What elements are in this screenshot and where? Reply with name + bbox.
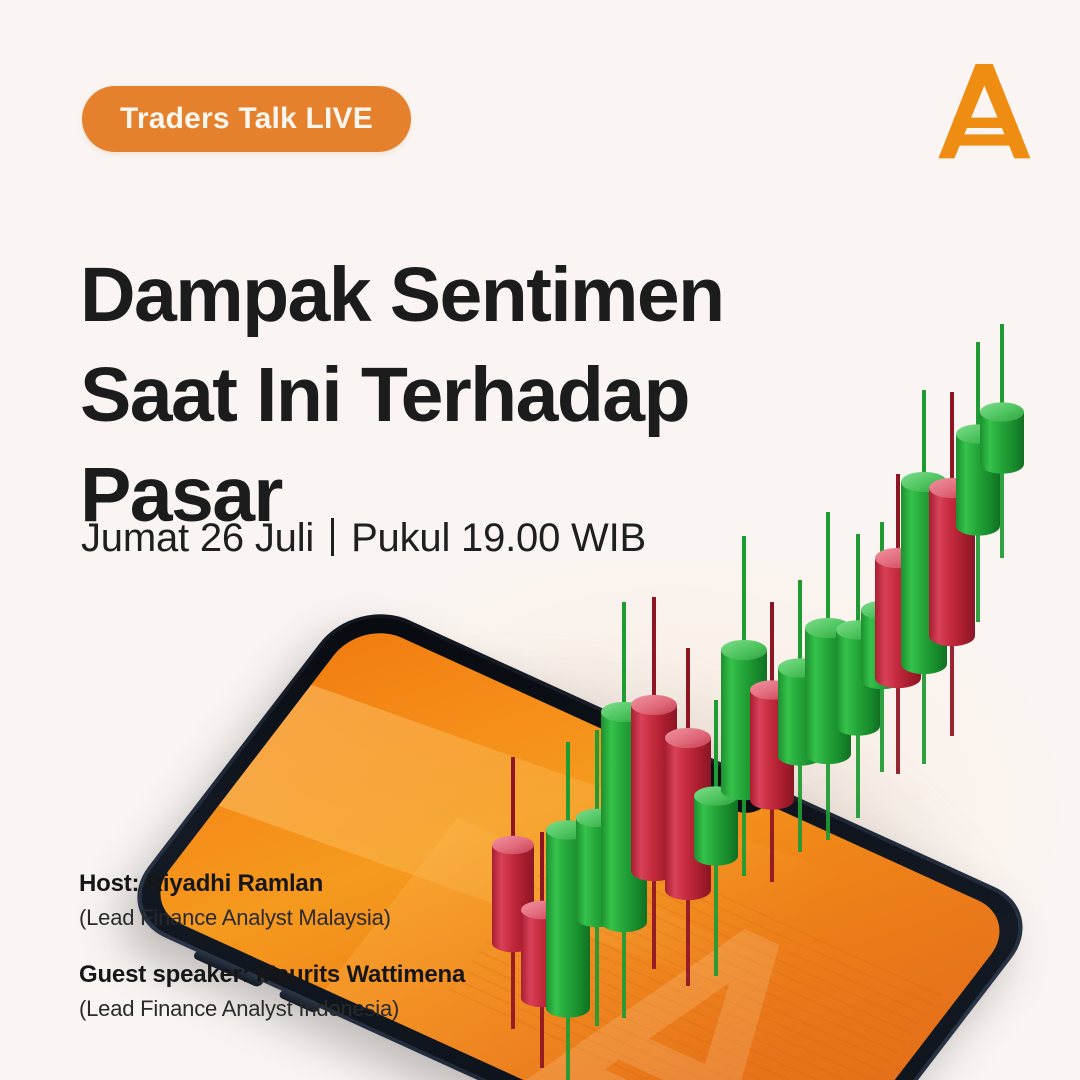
schedule-date: Jumat 26 Juli [81,514,314,562]
guest-role: (Lead Finance Analyst Indonesia) [79,994,465,1024]
headline-line-2: Saat Ini Terhadap [80,345,800,445]
headline-line-1: Dampak Sentimen [80,245,800,345]
host-role: (Lead Finance Analyst Malaysia) [79,903,465,933]
live-badge: Traders Talk LIVE [82,86,411,152]
guest-name: Guest speaker: Maurits Wattimena [79,959,465,991]
page-title: Dampak Sentimen Saat Ini Terhadap Pasar [80,245,800,545]
poster-canvas: Traders Talk LIVE Dampak Sentimen Saat I… [0,0,1080,1080]
credit-host: Host: Riyadhi Ramlan (Lead Finance Analy… [79,868,465,933]
arkana-a-logo-icon [936,58,1032,166]
host-name: Host: Riyadhi Ramlan [79,868,465,900]
candlestick [980,324,1024,558]
schedule-separator [331,518,334,556]
schedule-line: Jumat 26 Juli Pukul 19.00 WIB [81,513,646,562]
credits-block: Host: Riyadhi Ramlan (Lead Finance Analy… [79,868,465,1050]
schedule-time: Pukul 19.00 WIB [351,514,646,562]
live-badge-label: Traders Talk LIVE [120,104,373,134]
credit-guest: Guest speaker: Maurits Wattimena (Lead F… [79,959,465,1024]
